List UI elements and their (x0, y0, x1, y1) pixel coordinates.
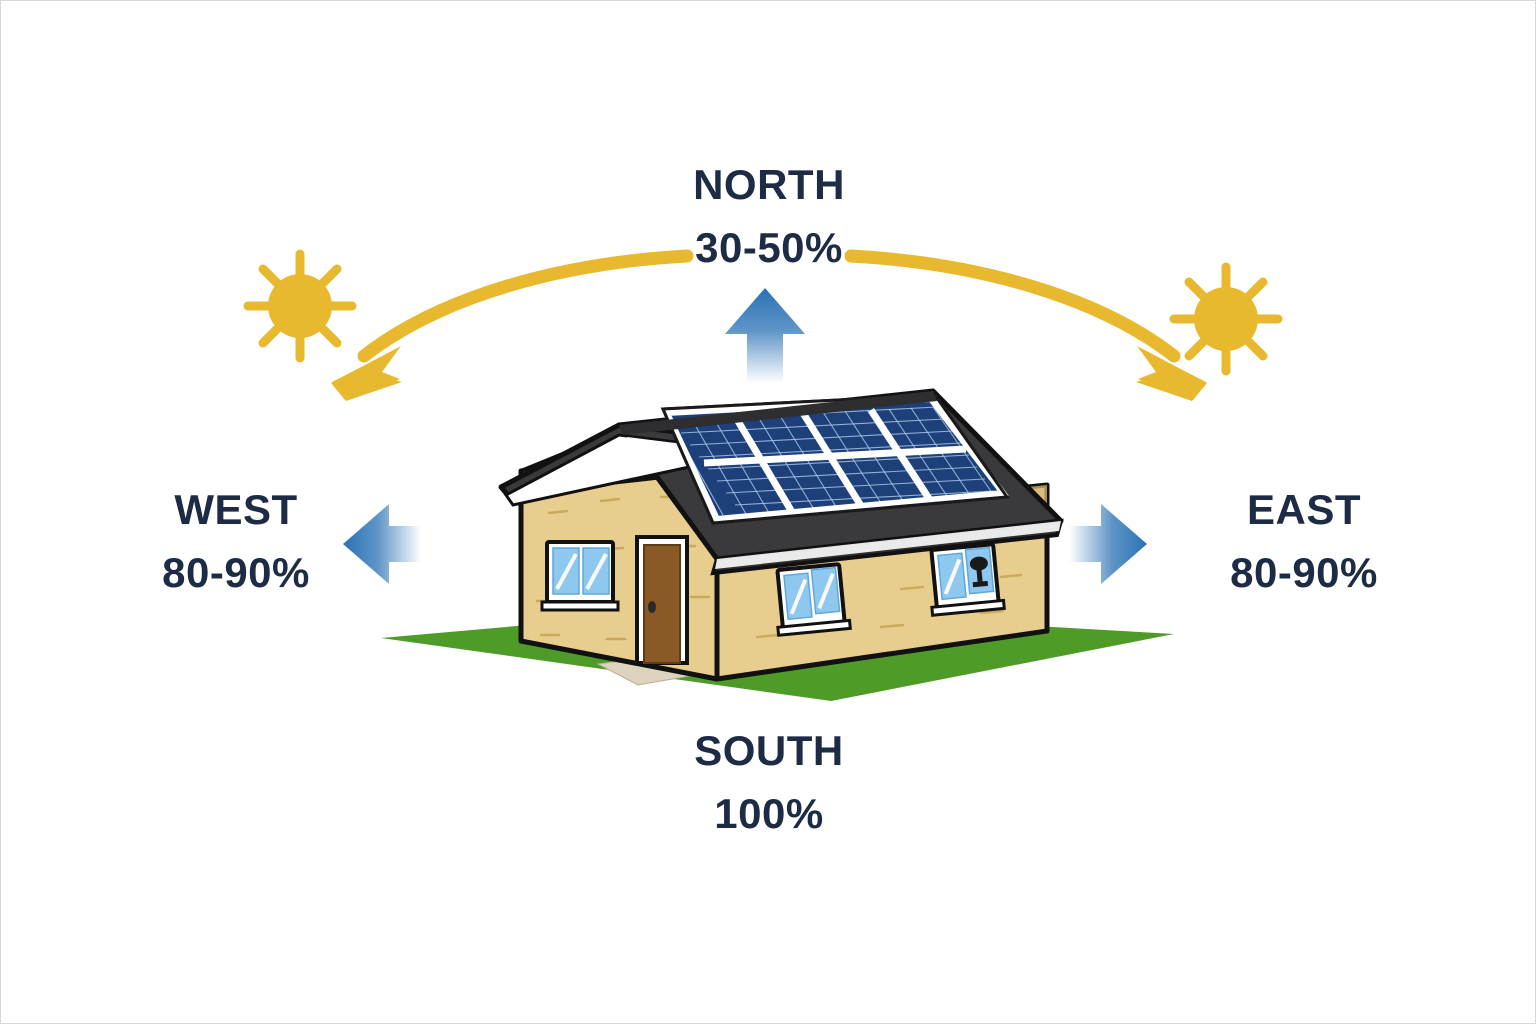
window-front (542, 542, 618, 610)
direction-arrow-east (1069, 504, 1147, 584)
direction-arrow-north (725, 288, 805, 383)
label-north-value: 30-50% (569, 224, 969, 271)
label-west: WEST 80-90% (91, 486, 381, 596)
front-door[interactable] (637, 537, 687, 663)
label-east-value: 80-90% (1159, 549, 1449, 596)
sun-path-arc-left (331, 256, 687, 401)
sun-path-arc-right (851, 256, 1207, 401)
label-south-title: SOUTH (569, 727, 969, 774)
label-east: EAST 80-90% (1159, 486, 1449, 596)
sun-icon-right (1174, 267, 1278, 371)
house-illustration (381, 391, 1174, 701)
door-knob-icon (648, 601, 656, 613)
label-north: NORTH 30-50% (569, 161, 969, 271)
sun-icon-left (248, 254, 352, 358)
label-west-value: 80-90% (91, 549, 381, 596)
window-side-1 (777, 564, 850, 635)
window-side-2 (931, 544, 1004, 615)
label-south: SOUTH 100% (569, 727, 969, 837)
label-south-value: 100% (569, 790, 969, 837)
solar-orientation-diagram: NORTH 30-50% EAST 80-90% SOUTH 100% WEST… (0, 0, 1536, 1024)
label-east-title: EAST (1159, 486, 1449, 533)
label-west-title: WEST (91, 486, 381, 533)
label-north-title: NORTH (569, 161, 969, 208)
